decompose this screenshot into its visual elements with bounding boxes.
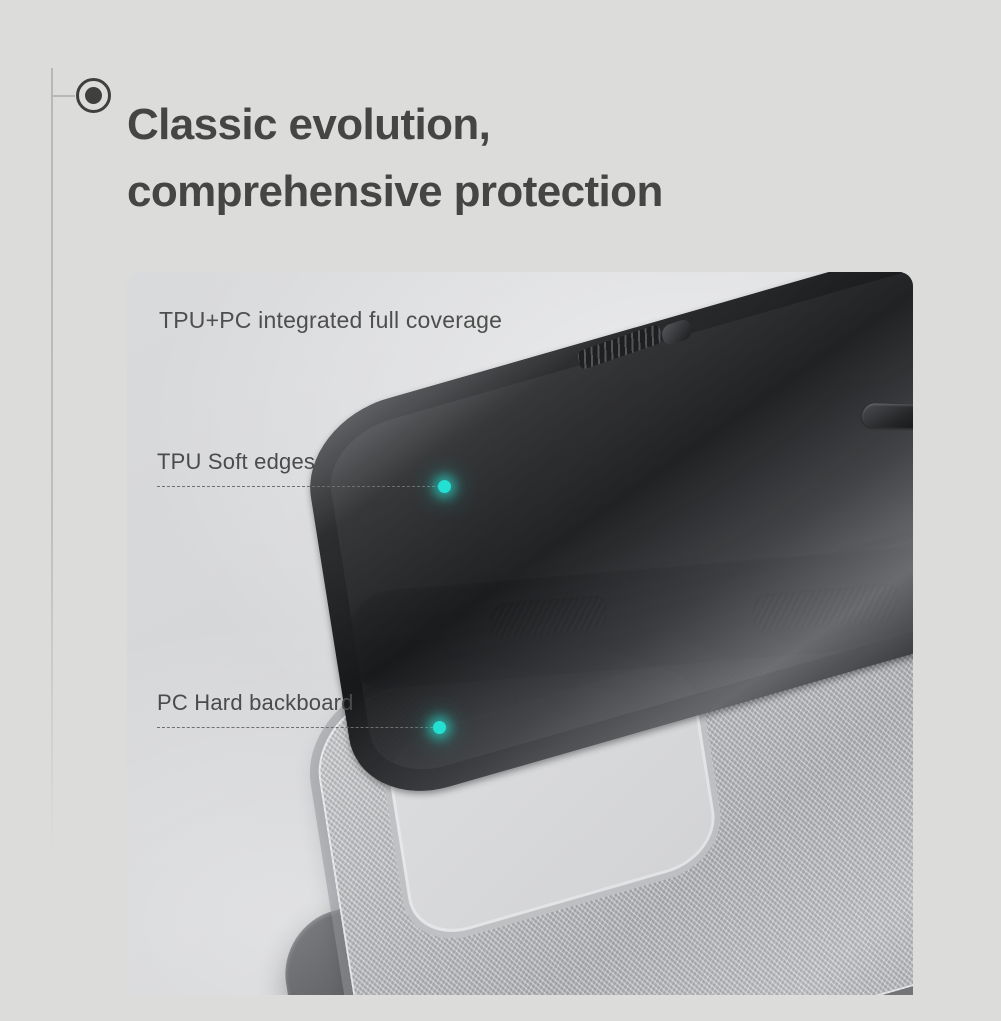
card-title: TPU+PC integrated full coverage bbox=[159, 307, 502, 334]
left-vertical-rule bbox=[51, 68, 53, 858]
callout-label: PC Hard backboard bbox=[157, 690, 354, 716]
product-scene bbox=[127, 272, 913, 995]
callout-marker-dot bbox=[433, 721, 446, 734]
target-dot-icon bbox=[76, 78, 111, 113]
left-tick-mark bbox=[51, 95, 75, 97]
target-dot-icon-center bbox=[85, 87, 102, 104]
volume-button-cutout bbox=[861, 403, 913, 429]
page-root: Classic evolution, comprehensive protect… bbox=[0, 0, 1001, 1021]
callout-leader-line bbox=[157, 727, 443, 728]
headline-line-1: Classic evolution, bbox=[127, 100, 490, 149]
feature-image-card: TPU+PC integrated full coverage bbox=[127, 272, 913, 995]
callout-label: TPU Soft edges bbox=[157, 449, 315, 475]
headline-line-2: comprehensive protection bbox=[127, 159, 887, 226]
page-title: Classic evolution, comprehensive protect… bbox=[127, 92, 887, 226]
callout-marker-dot bbox=[438, 480, 451, 493]
callout-leader-line bbox=[157, 486, 445, 487]
